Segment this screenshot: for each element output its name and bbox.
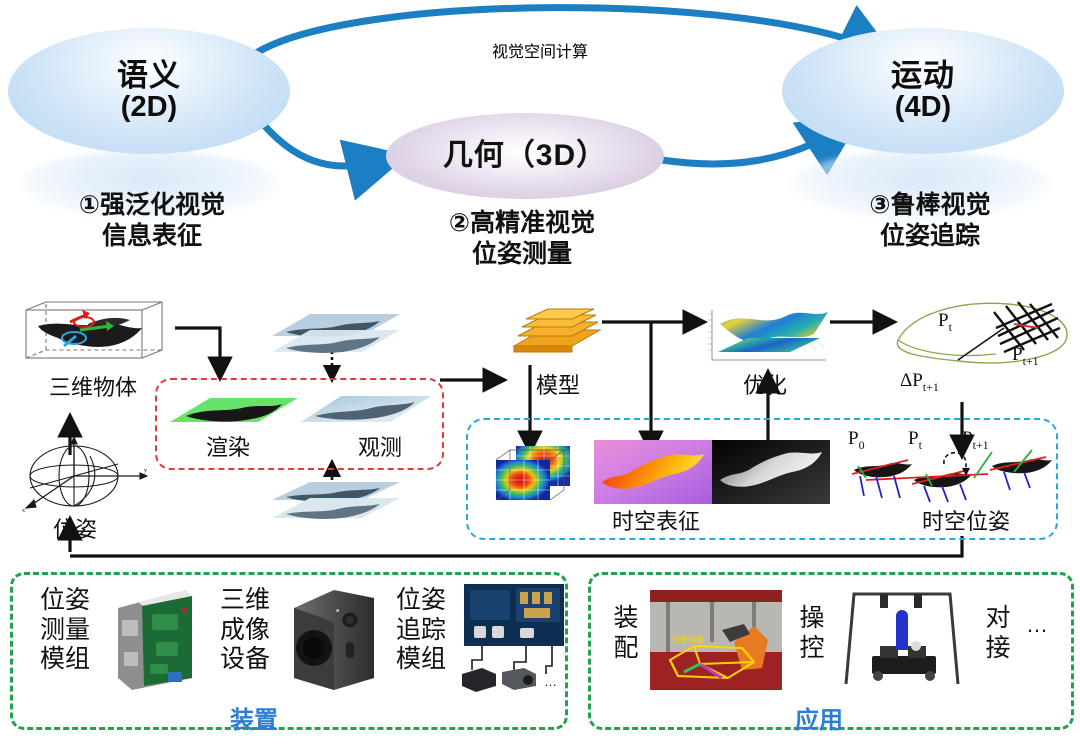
surface-grid-icon [888, 298, 1078, 376]
caption-spatiotemporal-feature: 时空表征 [556, 504, 756, 536]
devices-title: 装置 [230, 700, 278, 735]
app-3-line-2: 接 [976, 634, 1020, 664]
device-1-label: 位姿 测量 模组 [32, 586, 98, 675]
app-3-line-1: 对 [976, 604, 1020, 634]
app-1-line-1: 装 [604, 604, 648, 634]
step-2-line-2: 位姿测量 [372, 239, 672, 270]
step-1-line-1: ①强泛化视觉 [22, 190, 282, 221]
three-d-object-icon [18, 300, 170, 372]
depth-mask-image [712, 440, 830, 504]
node-motion-label: 运动 [891, 60, 955, 93]
device-2-line-1: 三维 [212, 586, 278, 616]
label-pose-p0: P0 [848, 428, 865, 453]
svg-text:位姿测量: 位姿测量 [672, 634, 704, 644]
diagram-root: 语义 (2D) 运动 (4D) 几何（3D） 视觉空间计算 ①强泛化视觉 信息表… [0, 0, 1080, 753]
device-3-line-1: 位姿 [388, 586, 454, 616]
device-1-line-1: 位姿 [32, 586, 98, 616]
step-3-line-2: 位姿追踪 [800, 221, 1060, 252]
caption-render: 渲染 [168, 430, 288, 462]
label-delta-ptp1: ΔPt+1 [900, 370, 939, 395]
label-grid-pt: Pt [938, 310, 952, 335]
heatmap-cube-icon [492, 442, 578, 504]
device-2-line-2: 成像 [212, 616, 278, 646]
device-3-photo: … [462, 582, 570, 694]
observation-stack-bottom [268, 482, 408, 538]
arrow-object-to-render [175, 328, 220, 374]
device-2-label: 三维 成像 设备 [212, 586, 278, 675]
device-1-line-2: 测量 [32, 616, 98, 646]
flowfield-image [594, 440, 712, 504]
node-semantic-dim: (2D) [121, 92, 177, 122]
node-geometry[interactable]: 几何（3D） [386, 113, 664, 199]
node-semantic[interactable]: 语义 (2D) [8, 28, 290, 154]
arc-semantic-to-geometry [258, 118, 388, 166]
app-2-photo [838, 588, 966, 690]
caption-three-d-object: 三维物体 [8, 370, 178, 402]
device-3-line-3: 模组 [388, 645, 454, 675]
caption-pose: 位姿 [20, 512, 130, 544]
device-3-label: 位姿 追踪 模组 [388, 586, 454, 675]
node-motion-dim: (4D) [895, 92, 951, 122]
device-2-line-3: 设备 [212, 645, 278, 675]
step-2: ②高精准视觉 位姿测量 [372, 208, 672, 271]
step-3: ③鲁棒视觉 位姿追踪 [800, 190, 1060, 253]
node-geometry-label: 几何（3D） [443, 140, 607, 172]
step-2-line-1: ②高精准视觉 [372, 208, 672, 239]
label-pose-ptp1: Pt+1 [962, 428, 989, 453]
app-1-label: 装 配 [604, 604, 648, 663]
svg-text:z: z [68, 434, 71, 440]
app-2-label: 操 控 [790, 604, 834, 663]
label-pose-pt: Pt [908, 428, 922, 453]
caption-spatiotemporal-pose: 时空位姿 [886, 504, 1046, 536]
device-3-line-2: 追踪 [388, 616, 454, 646]
svg-text:y: y [144, 468, 147, 474]
app-1-line-2: 配 [604, 634, 648, 664]
pose-sphere-icon: z y x [8, 432, 158, 514]
app-3-label: 对 接 [976, 604, 1020, 663]
pose-sequence-icon [846, 440, 1056, 506]
node-semantic-label: 语义 [117, 60, 181, 93]
device-2-photo: ■ [288, 586, 380, 694]
device-1-line-3: 模组 [32, 645, 98, 675]
caption-model: 模型 [508, 368, 608, 400]
label-grid-ptp1: Pt+1 [1012, 344, 1039, 369]
app-ellipsis: … [1026, 612, 1048, 638]
app-2-line-2: 控 [790, 634, 834, 664]
observation-thumbnail [295, 388, 435, 436]
step-3-line-1: ③鲁棒视觉 [800, 190, 1060, 221]
caption-optimization: 优化 [710, 368, 820, 400]
svg-text:■: ■ [336, 608, 339, 614]
page-title: 视觉空间计算 [390, 38, 690, 62]
applications-title: 应用 [795, 700, 843, 735]
step-1: ①强泛化视觉 信息表征 [22, 190, 282, 253]
model-stack-icon [508, 306, 608, 368]
observation-stack-top [268, 310, 408, 366]
step-1-line-2: 信息表征 [22, 221, 282, 252]
svg-text:…: … [544, 674, 557, 689]
node-motion[interactable]: 运动 (4D) [782, 28, 1064, 154]
app-2-line-1: 操 [790, 604, 834, 634]
device-1-photo [108, 586, 202, 694]
optimization-surface-icon [690, 302, 840, 374]
app-1-photo: 位姿测量 [650, 590, 782, 690]
caption-observation: 观测 [320, 430, 440, 462]
